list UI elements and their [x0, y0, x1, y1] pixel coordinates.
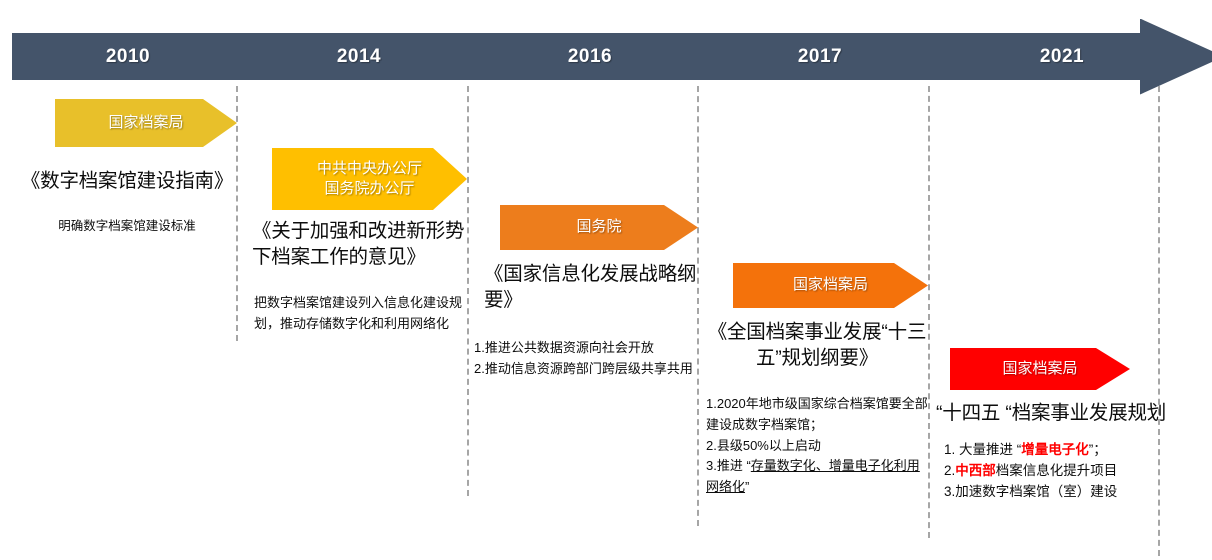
agency-label: 国家档案局	[108, 113, 183, 133]
agency-arrow-2016: 国务院	[500, 205, 698, 250]
milestone-column-2016: 国务院 《国家信息化发展战略纲要》 1.推进公共数据资源向社会开放 2.推动信息…	[473, 205, 699, 380]
document-title-2021: “十四五 “档案事业发展规划	[934, 401, 1178, 427]
document-title-2014: 《关于加强和改进新形势下档案工作的意见》	[243, 219, 469, 270]
agency-label-line1: 中共中央办公厅	[317, 160, 422, 177]
agency-label: 中共中央办公厅 国务院办公厅	[317, 159, 422, 200]
detail-prefix: 2.	[944, 463, 955, 478]
agency-label: 国家档案局	[1002, 359, 1077, 379]
agency-label: 国家档案局	[793, 275, 868, 295]
detail-item: 明确数字档案馆建设标准	[12, 217, 242, 237]
agency-arrow-2010: 国家档案局	[55, 99, 237, 147]
milestone-column-2014: 中共中央办公厅 国务院办公厅 《关于加强和改进新形势下档案工作的意见》 把数字档…	[243, 148, 469, 335]
detail-prefix: 3.推进 “	[706, 458, 751, 473]
milestone-column-2017: 国家档案局 《全国档案事业发展“十三五”规划纲要》 1.2020年地市级国家综合…	[704, 263, 930, 497]
detail-item: 3.推进 “存量数字化、增量电子化利用网络化”	[706, 456, 930, 497]
detail-item: 3.加速数字档案馆（室）建设	[944, 481, 1178, 502]
detail-item: 1. 大量推进 “增量电子化”；	[944, 439, 1178, 460]
year-label-2014: 2014	[279, 33, 439, 80]
detail-suffix: ”；	[1089, 442, 1107, 457]
detail-item: 2.推动信息资源跨部门跨层级共享共用	[474, 359, 699, 380]
detail-suffix: 档案信息化提升项目	[996, 463, 1118, 478]
detail-list-2017: 1.2020年地市级国家综合档案馆要全部建设成数字档案馆； 2.县级50%以上启…	[704, 394, 930, 497]
agency-arrow-2014: 中共中央办公厅 国务院办公厅	[272, 148, 467, 210]
document-title-2010: 《数字档案馆建设指南》	[12, 169, 242, 195]
year-label-2021: 2021	[982, 33, 1142, 80]
year-label-2017: 2017	[740, 33, 900, 80]
agency-arrow-2021: 国家档案局	[950, 348, 1130, 390]
year-label-2010: 2010	[48, 33, 208, 80]
year-label-2016: 2016	[510, 33, 670, 80]
detail-highlight: 中西部	[955, 463, 996, 478]
detail-list-2016: 1.推进公共数据资源向社会开放 2.推动信息资源跨部门跨层级共享共用	[473, 338, 699, 379]
detail-list-2010: 明确数字档案馆建设标准	[12, 217, 242, 237]
milestone-column-2021: 国家档案局 “十四五 “档案事业发展规划 1. 大量推进 “增量电子化”； 2.…	[934, 348, 1178, 503]
agency-label: 国务院	[576, 217, 621, 237]
detail-item: 1.2020年地市级国家综合档案馆要全部建设成数字档案馆；	[706, 394, 930, 435]
document-title-2016: 《国家信息化发展战略纲要》	[473, 262, 699, 313]
detail-prefix: 1. 大量推进 “	[944, 442, 1021, 457]
detail-item: 把数字档案馆建设列入信息化建设规划，推动存储数字化和利用网络化	[254, 293, 469, 334]
document-title-2017: 《全国档案事业发展“十三五”规划纲要》	[704, 320, 930, 371]
detail-list-2014: 把数字档案馆建设列入信息化建设规划，推动存储数字化和利用网络化	[243, 293, 469, 334]
detail-list-2021: 1. 大量推进 “增量电子化”； 2.中西部档案信息化提升项目 3.加速数字档案…	[934, 439, 1178, 503]
agency-arrow-2017: 国家档案局	[733, 263, 928, 308]
timeline-arrow-head-icon	[1140, 19, 1212, 95]
milestone-column-2010: 国家档案局 《数字档案馆建设指南》 明确数字档案馆建设标准	[12, 99, 242, 236]
detail-highlight: 增量电子化	[1021, 442, 1089, 457]
agency-label-line2: 国务院办公厅	[324, 180, 414, 197]
detail-suffix: ”	[745, 479, 749, 494]
detail-item: 2.中西部档案信息化提升项目	[944, 460, 1178, 481]
detail-item: 1.推进公共数据资源向社会开放	[474, 338, 699, 359]
detail-item: 2.县级50%以上启动	[706, 436, 930, 457]
